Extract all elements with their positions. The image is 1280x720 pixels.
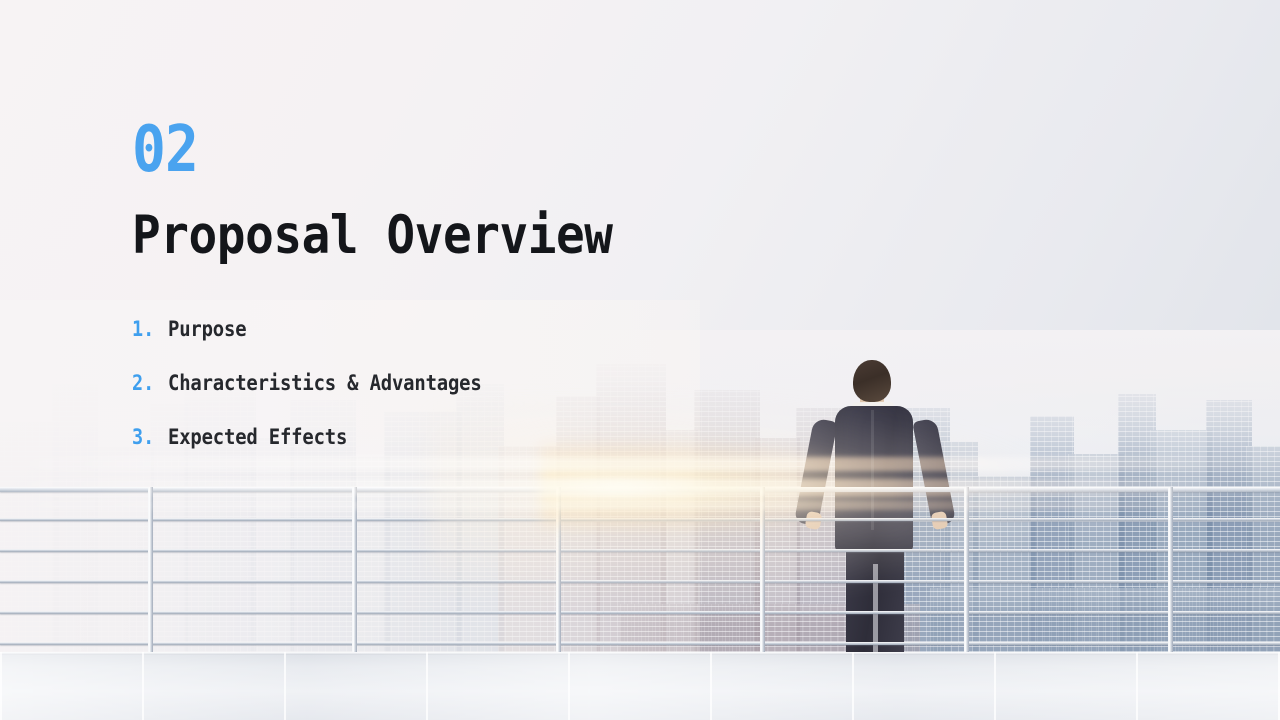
flare-streak [0,479,1280,497]
page-title: Proposal Overview [132,208,613,263]
rail-post [352,487,357,672]
agenda-label: Expected Effects [168,425,347,449]
head [853,360,891,402]
slide-content: 02 Proposal Overview 1. Purpose 2. Chara… [132,118,666,479]
agenda-label: Purpose [168,317,246,341]
rail-bar [0,611,1280,614]
agenda-list: 1. Purpose 2. Characteristics & Advantag… [132,317,666,449]
section-number: 02 [132,118,602,182]
agenda-number: 1. [132,317,164,341]
agenda-label: Characteristics & Advantages [168,371,482,395]
flare-streak [0,500,1280,510]
slide-root: 02 Proposal Overview 1. Purpose 2. Chara… [0,0,1280,720]
rail-post [148,487,153,672]
rail-post [1168,487,1173,672]
agenda-item-1[interactable]: 1. Purpose [132,317,666,341]
glossy-floor [0,652,1280,720]
floor-panel-seams [0,652,1280,720]
agenda-item-3[interactable]: 3. Expected Effects [132,425,666,449]
agenda-number: 2. [132,371,164,395]
rail-bar [0,642,1280,645]
agenda-number: 3. [132,425,164,449]
agenda-item-2[interactable]: 2. Characteristics & Advantages [132,371,666,395]
